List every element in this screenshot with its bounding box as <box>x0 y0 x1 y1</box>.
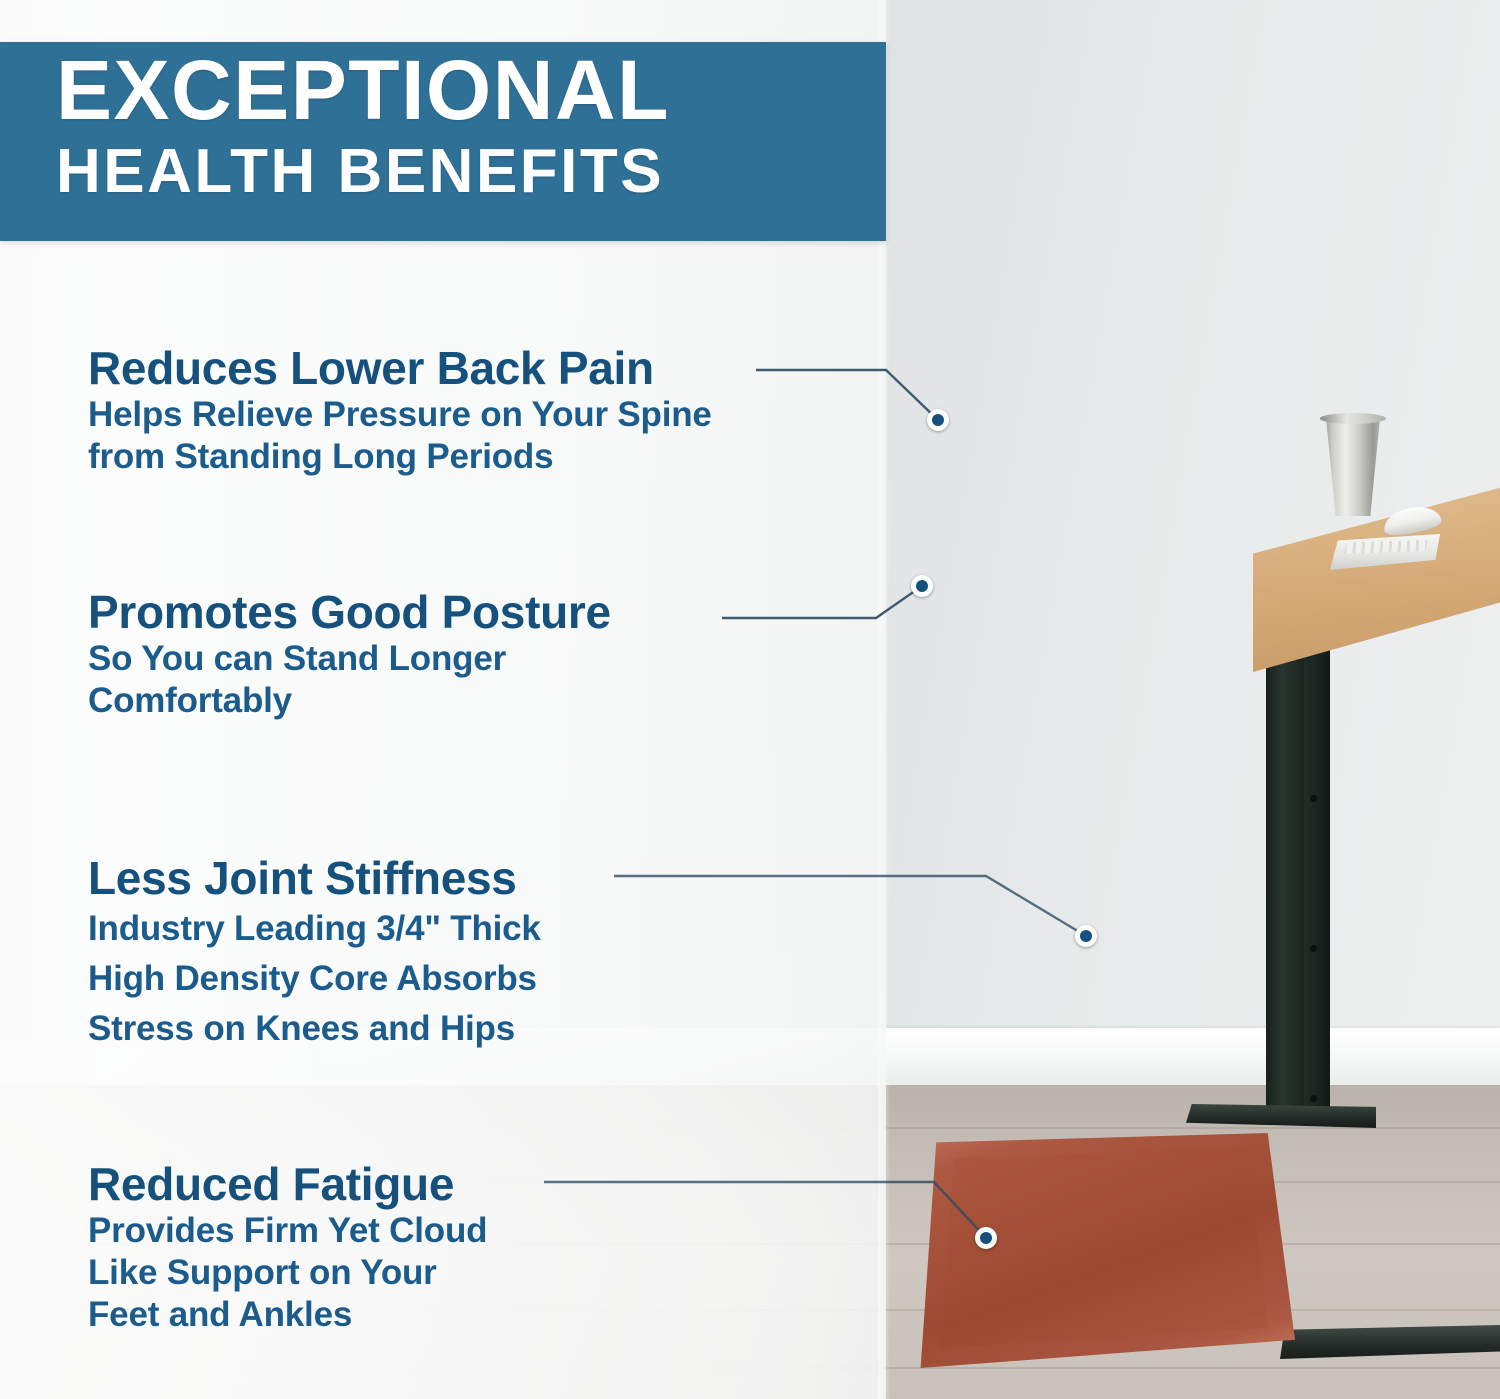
benefit-title-1: Reduces Lower Back Pain <box>88 342 712 394</box>
benefit-title-2: Promotes Good Posture <box>88 586 611 638</box>
benefit-line-3-2: High Density Core Absorbs <box>88 954 541 1004</box>
person <box>960 30 1280 1340</box>
banner-title-line2: HEALTH BENEFITS <box>56 140 866 204</box>
benefit-line-2-1: So You can Stand Longer <box>88 638 611 680</box>
callout-dot-mat <box>975 1227 997 1249</box>
benefit-title-4: Reduced Fatigue <box>88 1158 487 1210</box>
benefit-line-4-2: Like Support on Your <box>88 1252 487 1294</box>
banner-title-line1: EXCEPTIONAL <box>56 46 866 134</box>
benefit-block-3: Less Joint Stiffness Industry Leading 3/… <box>88 852 541 1054</box>
callout-dot-upper-back <box>911 575 933 597</box>
desk-leg-front <box>1304 645 1330 1115</box>
callout-dot-knee <box>1075 925 1097 947</box>
tumbler-rim <box>1320 413 1386 424</box>
benefit-line-4-1: Provides Firm Yet Cloud <box>88 1210 487 1252</box>
benefit-line-1-1: Helps Relieve Pressure on Your Spine <box>88 394 712 436</box>
benefit-title-3: Less Joint Stiffness <box>88 852 541 904</box>
callout-dot-lower-back <box>927 409 949 431</box>
benefit-block-1: Reduces Lower Back Pain Helps Relieve Pr… <box>88 342 712 478</box>
benefit-line-4-3: Feet and Ankles <box>88 1294 487 1336</box>
infographic-canvas: EXCEPTIONAL HEALTH BENEFITS Reduces Lowe… <box>0 0 1500 1399</box>
benefit-line-2-2: Comfortably <box>88 680 611 722</box>
benefit-line-3-1: Industry Leading 3/4" Thick <box>88 904 541 954</box>
benefit-line-3-3: Stress on Knees and Hips <box>88 1004 541 1054</box>
benefit-line-1-2: from Standing Long Periods <box>88 436 712 478</box>
benefit-block-4: Reduced Fatigue Provides Firm Yet Cloud … <box>88 1158 487 1336</box>
benefit-block-2: Promotes Good Posture So You can Stand L… <box>88 586 611 722</box>
